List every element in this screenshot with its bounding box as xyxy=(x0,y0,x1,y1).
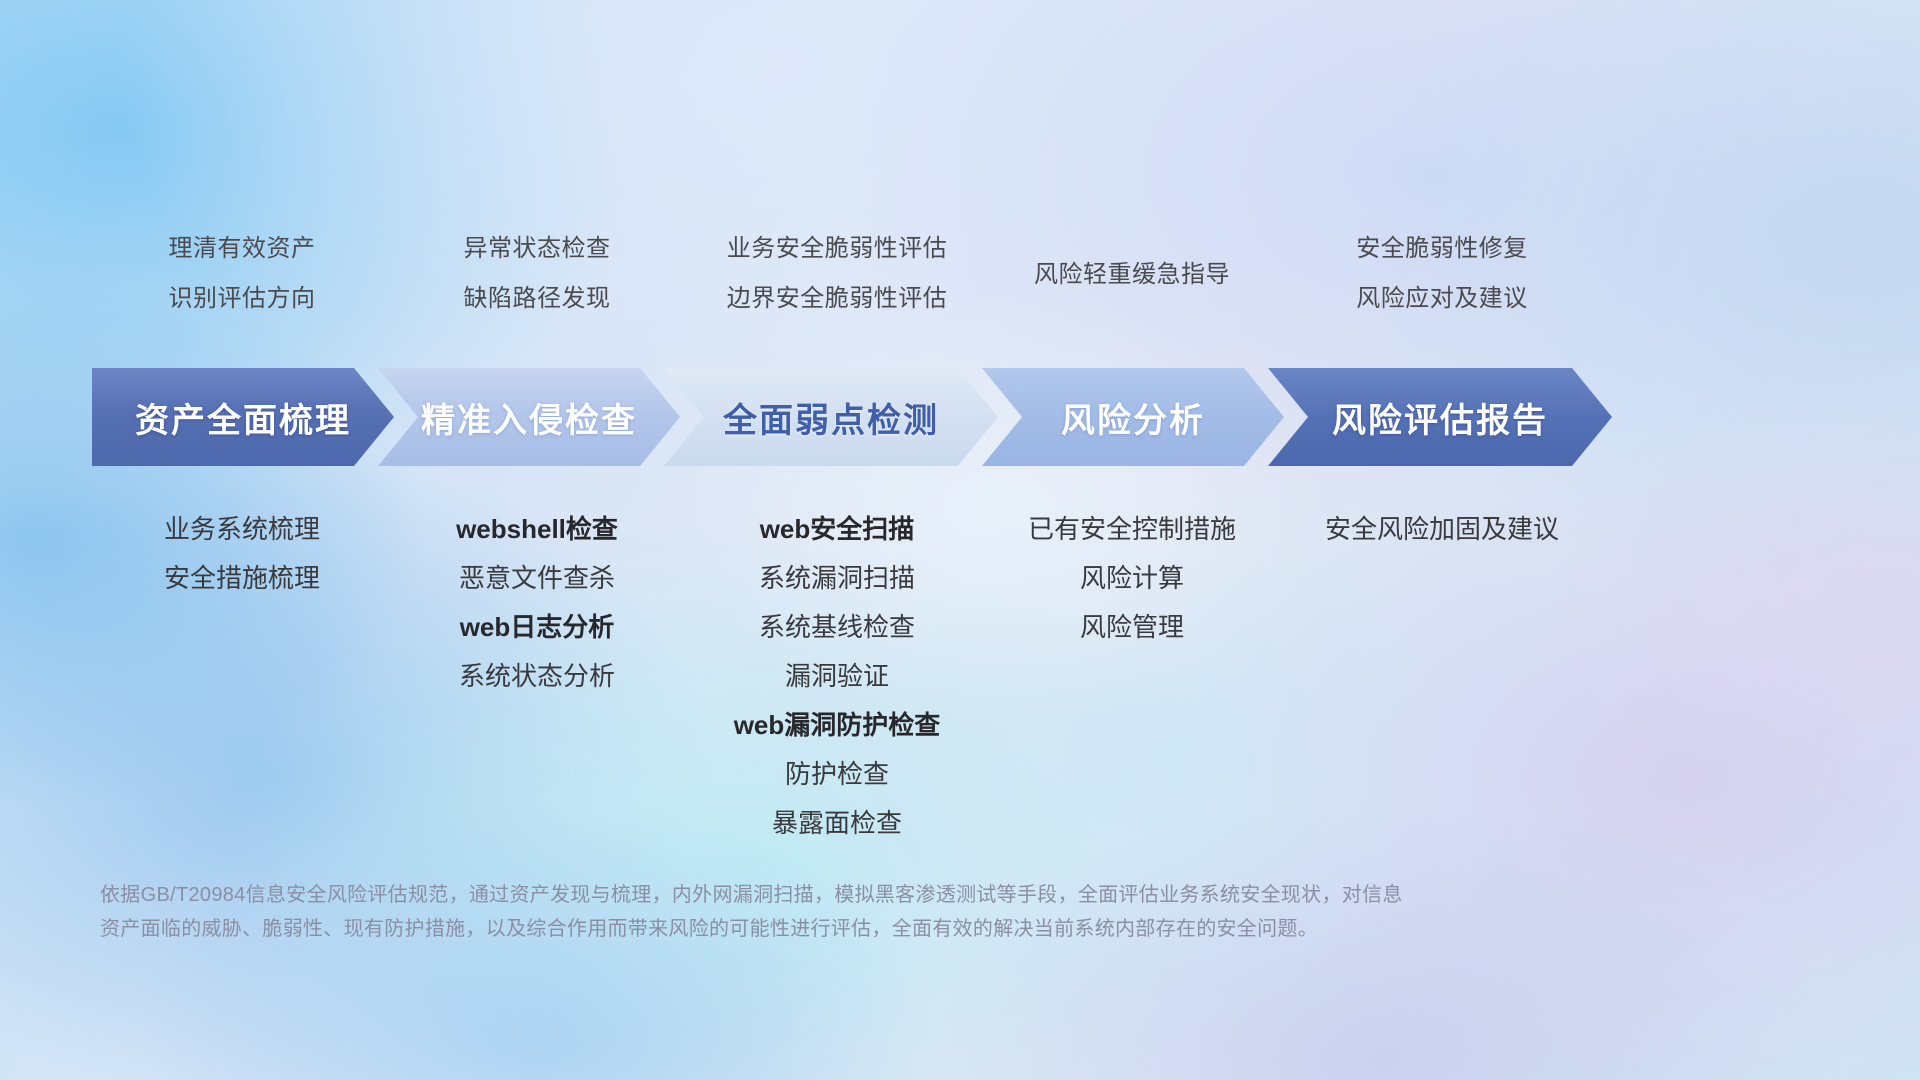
stage-label: 精准入侵检查 xyxy=(421,393,637,442)
top-note-line: 业务安全脆弱性评估 xyxy=(682,224,992,274)
bottom-items-intrusion-check: webshell检查恶意文件查杀web日志分析系统状态分析 xyxy=(392,505,682,701)
list-item: 风险管理 xyxy=(992,603,1272,652)
top-note-line: 安全脆弱性修复 xyxy=(1272,224,1612,274)
stage-chevron-band: 资产全面梳理精准入侵检查全面弱点检测风险分析风险评估报告 xyxy=(0,368,1920,466)
list-item: web漏洞防护检查 xyxy=(682,701,992,750)
bottom-items-weakness-detection: web安全扫描系统漏洞扫描系统基线检查漏洞验证web漏洞防护检查防护检查暴露面检… xyxy=(682,505,992,848)
list-item: 业务系统梳理 xyxy=(92,505,392,554)
bottom-items-band: 业务系统梳理安全措施梳理webshell检查恶意文件查杀web日志分析系统状态分… xyxy=(0,505,1920,925)
top-note-line: 异常状态检查 xyxy=(392,224,682,274)
top-note-line: 边界安全脆弱性评估 xyxy=(682,274,992,324)
top-notes-asset-inventory: 理清有效资产识别评估方向 xyxy=(92,224,392,324)
list-item: 防护检查 xyxy=(682,750,992,799)
top-notes-risk-analysis: 风险轻重缓急指导 xyxy=(992,250,1272,300)
top-note-line: 理清有效资产 xyxy=(92,224,392,274)
top-note-line: 识别评估方向 xyxy=(92,274,392,324)
top-note-line: 风险应对及建议 xyxy=(1272,274,1612,324)
bottom-items-risk-analysis: 已有安全控制措施风险计算风险管理 xyxy=(992,505,1272,652)
stage-label: 全面弱点检测 xyxy=(723,393,939,442)
footer-line: 资产面临的威胁、脆弱性、现有防护措施，以及综合作用而带来风险的可能性进行评估，全… xyxy=(100,912,1660,946)
footer-description: 依据GB/T20984信息安全风险评估规范，通过资产发现与梳理，内外网漏洞扫描，… xyxy=(100,878,1660,946)
top-notes-weakness-detection: 业务安全脆弱性评估边界安全脆弱性评估 xyxy=(682,224,992,324)
list-item: 安全风险加固及建议 xyxy=(1272,505,1612,554)
stage-chevron-asset-inventory[interactable]: 资产全面梳理 xyxy=(92,368,394,466)
stage-chevron-risk-report[interactable]: 风险评估报告 xyxy=(1268,368,1612,466)
list-item: 系统状态分析 xyxy=(392,652,682,701)
process-diagram: 理清有效资产识别评估方向异常状态检查缺陷路径发现业务安全脆弱性评估边界安全脆弱性… xyxy=(0,0,1920,1080)
list-item: 系统基线检查 xyxy=(682,603,992,652)
bottom-items-risk-report: 安全风险加固及建议 xyxy=(1272,505,1612,554)
list-item: web日志分析 xyxy=(392,603,682,652)
list-item: 暴露面检查 xyxy=(682,799,992,848)
top-notes-risk-report: 安全脆弱性修复风险应对及建议 xyxy=(1272,224,1612,324)
list-item: 安全措施梳理 xyxy=(92,554,392,603)
list-item: 系统漏洞扫描 xyxy=(682,554,992,603)
stage-chevron-intrusion-check[interactable]: 精准入侵检查 xyxy=(378,368,680,466)
stage-chevron-risk-analysis[interactable]: 风险分析 xyxy=(982,368,1284,466)
stage-label: 资产全面梳理 xyxy=(135,393,351,442)
list-item: 漏洞验证 xyxy=(682,652,992,701)
top-notes-band: 理清有效资产识别评估方向异常状态检查缺陷路径发现业务安全脆弱性评估边界安全脆弱性… xyxy=(0,224,1920,320)
stage-label: 风险分析 xyxy=(1061,393,1205,442)
list-item: 恶意文件查杀 xyxy=(392,554,682,603)
list-item: webshell检查 xyxy=(392,505,682,554)
list-item: web安全扫描 xyxy=(682,505,992,554)
list-item: 风险计算 xyxy=(992,554,1272,603)
top-notes-intrusion-check: 异常状态检查缺陷路径发现 xyxy=(392,224,682,324)
top-note-line: 缺陷路径发现 xyxy=(392,274,682,324)
stage-chevron-weakness-detection[interactable]: 全面弱点检测 xyxy=(664,368,998,466)
stage-label: 风险评估报告 xyxy=(1332,393,1548,442)
bottom-items-asset-inventory: 业务系统梳理安全措施梳理 xyxy=(92,505,392,603)
top-note-line: 风险轻重缓急指导 xyxy=(992,250,1272,300)
footer-line: 依据GB/T20984信息安全风险评估规范，通过资产发现与梳理，内外网漏洞扫描，… xyxy=(100,878,1660,912)
list-item: 已有安全控制措施 xyxy=(992,505,1272,554)
